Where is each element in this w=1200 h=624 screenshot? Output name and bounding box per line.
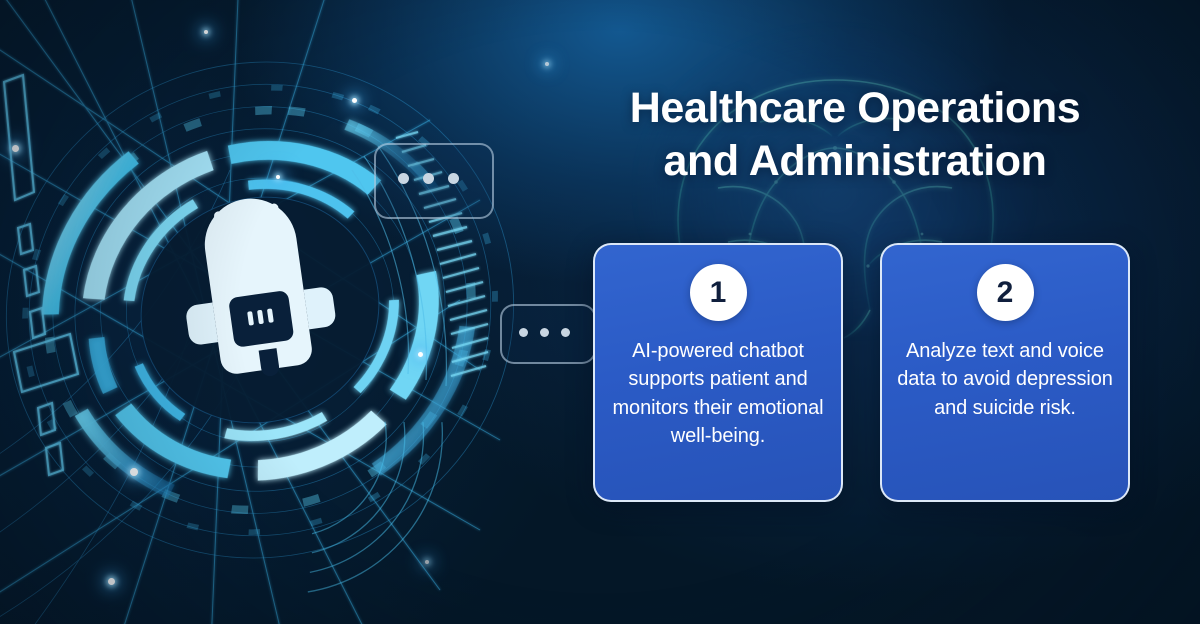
info-card-1[interactable]: 1 AI-powered chatbot supports patient an…: [593, 243, 843, 502]
info-card-2[interactable]: 2 Analyze text and voice data to avoid d…: [880, 243, 1130, 502]
card-number-badge: 2: [977, 264, 1034, 321]
slide-canvas: Healthcare Operations and Administration…: [0, 0, 1200, 624]
card-body-text: AI-powered chatbot supports patient and …: [595, 337, 841, 451]
card-body-text: Analyze text and voice data to avoid dep…: [882, 337, 1128, 422]
page-title: Healthcare Operations and Administration: [575, 82, 1135, 188]
card-number-badge: 1: [690, 264, 747, 321]
